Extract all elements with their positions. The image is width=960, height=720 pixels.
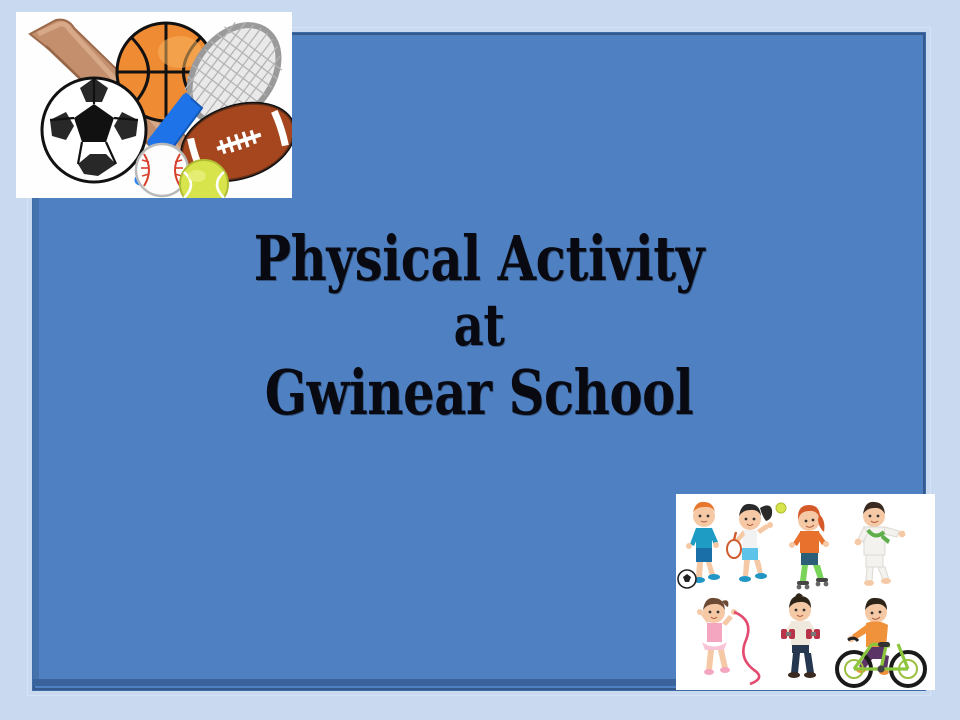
sports-equipment-clipart-image [16,12,292,198]
presentation-slide: Physical Activity at Gwinear School [0,0,960,720]
title-line-3: Gwinear School [122,362,836,424]
page-title: Physical Activity at Gwinear School [33,228,925,424]
title-line-1: Physical Activity [122,228,836,290]
soccer-ball-icon [42,78,146,182]
tennis-ball-icon [180,160,228,198]
children-sports-clipart-image [676,494,935,690]
title-line-2: at [122,296,836,354]
